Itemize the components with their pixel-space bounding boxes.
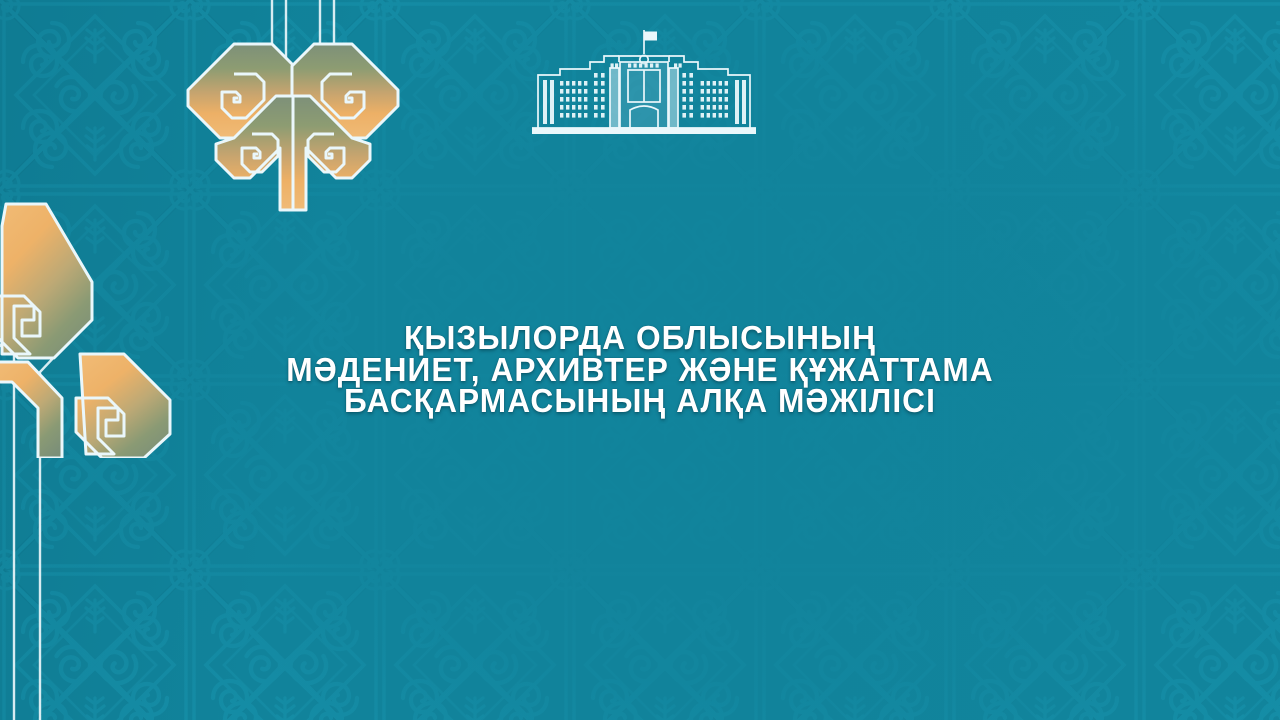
title-line-1: ҚЫЗЫЛОРДА ОБЛЫСЫНЫҢ	[170, 322, 1111, 354]
title-line-2: МӘДЕНИЕТ, АРХИВТЕР ЖӘНЕ ҚҰЖАТТАМА	[170, 354, 1111, 386]
kazakh-ornament-top	[176, 0, 410, 218]
presentation-slide: ҚЫЗЫЛОРДА ОБЛЫСЫНЫҢ МӘДЕНИЕТ, АРХИВТЕР Ж…	[0, 0, 1280, 720]
government-building-emblem	[524, 28, 764, 140]
title-line-3: БАСҚАРМАСЫНЫҢ АЛҚА МӘЖІЛІСІ	[170, 385, 1111, 417]
slide-title: ҚЫЗЫЛОРДА ОБЛЫСЫНЫҢ МӘДЕНИЕТ, АРХИВТЕР Ж…	[26, 322, 1255, 417]
